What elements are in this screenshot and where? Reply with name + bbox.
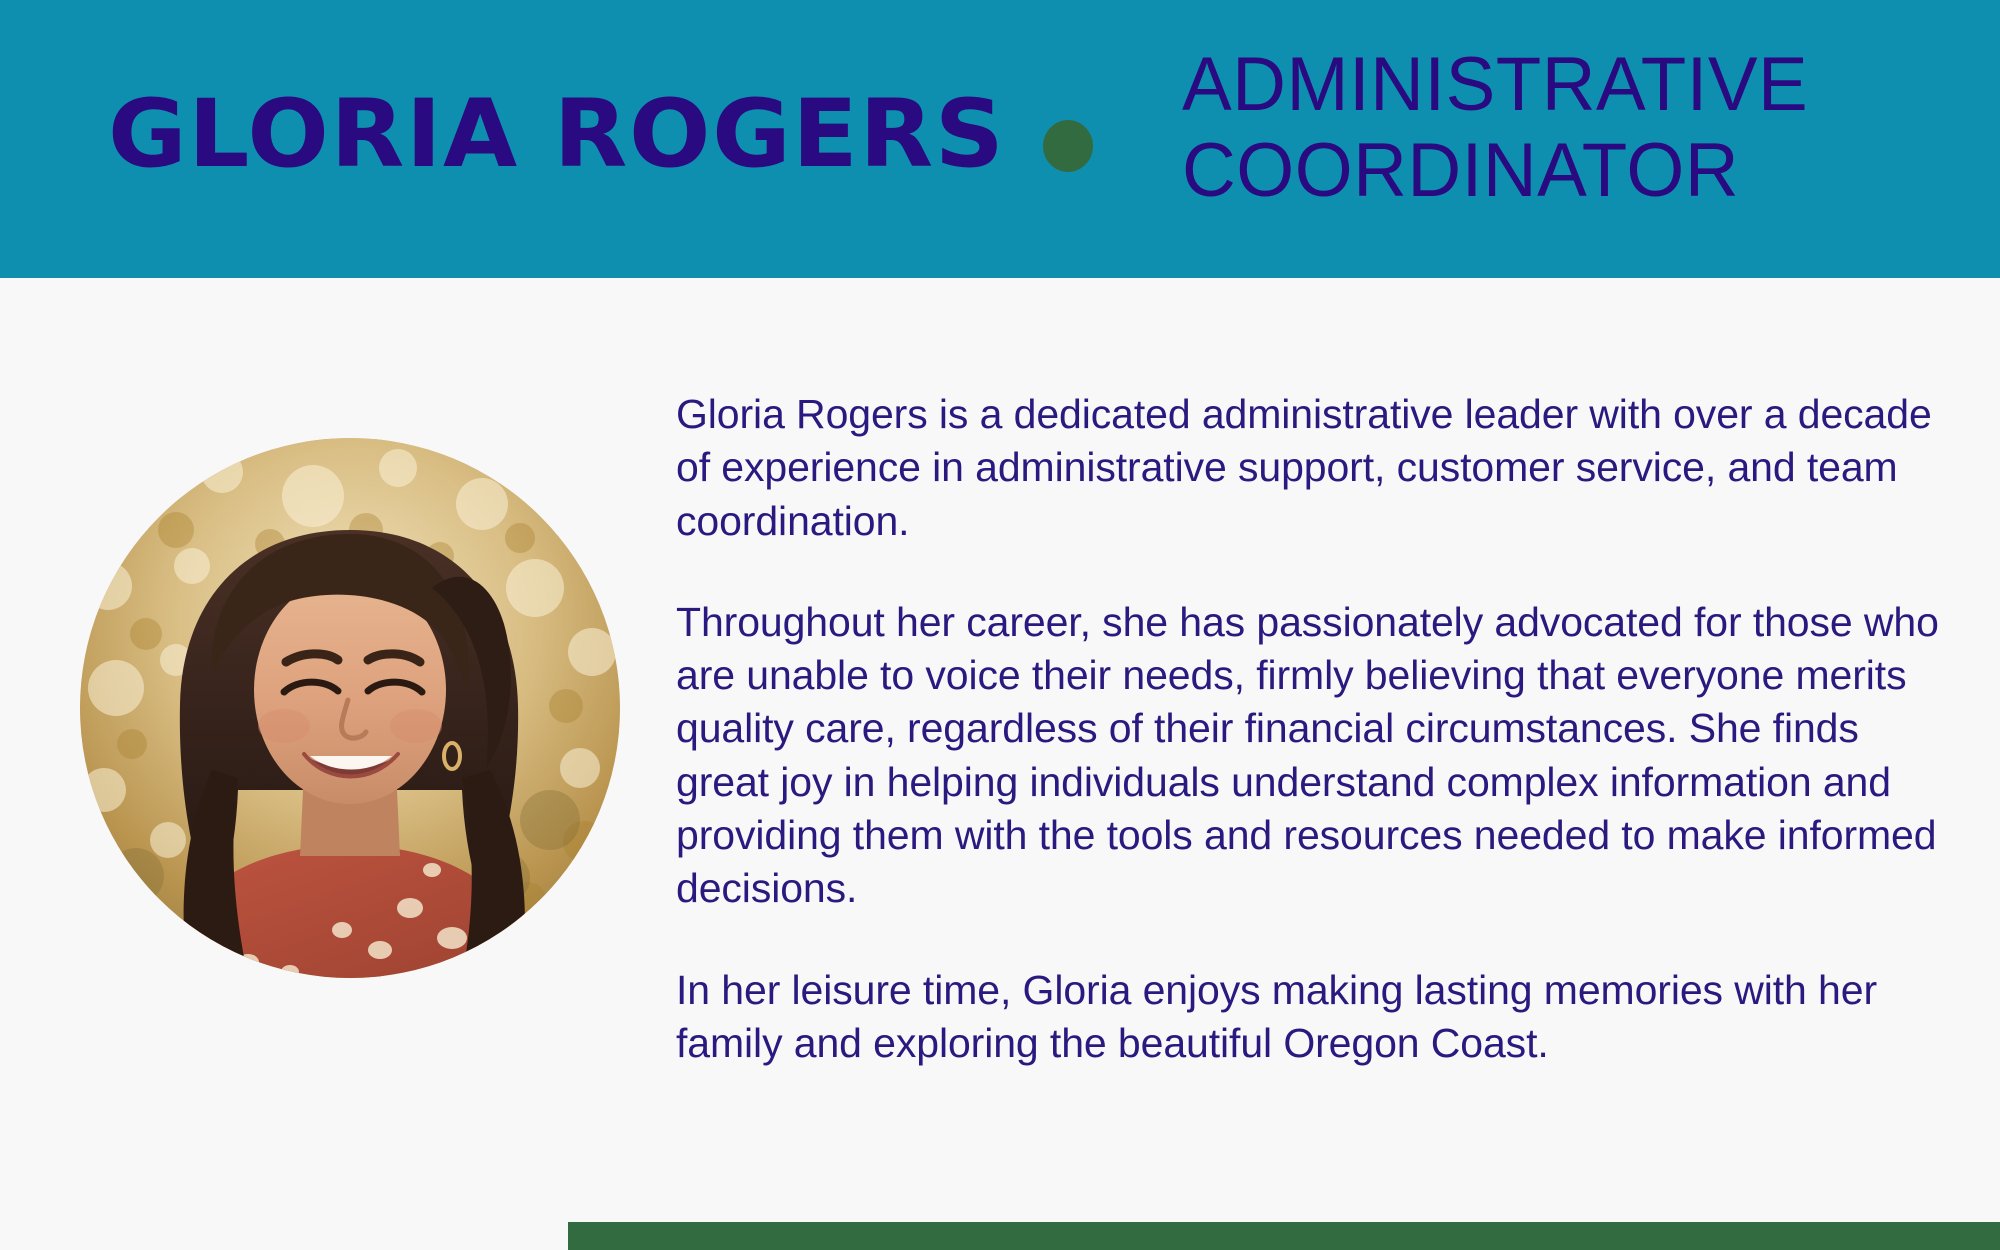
avatar xyxy=(80,438,620,978)
bio-paragraph-3: In her leisure time, Gloria enjoys makin… xyxy=(676,964,1946,1071)
footer-accent-bar xyxy=(568,1222,2000,1250)
profile-slide: GLORIA ROGERS ADMINISTRATIVE COORDINATOR xyxy=(0,0,2000,1250)
header-content: GLORIA ROGERS ADMINISTRATIVE COORDINATOR xyxy=(0,0,2000,278)
page-title: GLORIA ROGERS xyxy=(108,50,1006,220)
header-bar: GLORIA ROGERS ADMINISTRATIVE COORDINATOR xyxy=(0,0,2000,278)
job-title: ADMINISTRATIVE COORDINATOR xyxy=(1182,42,1956,214)
dot-separator-icon xyxy=(1043,120,1093,172)
bio-paragraph-2: Throughout her career, she has passionat… xyxy=(676,596,1946,916)
portrait-photo xyxy=(80,438,620,978)
bio-paragraph-1: Gloria Rogers is a dedicated administrat… xyxy=(676,388,1946,548)
bio-text: Gloria Rogers is a dedicated administrat… xyxy=(676,388,1946,1070)
